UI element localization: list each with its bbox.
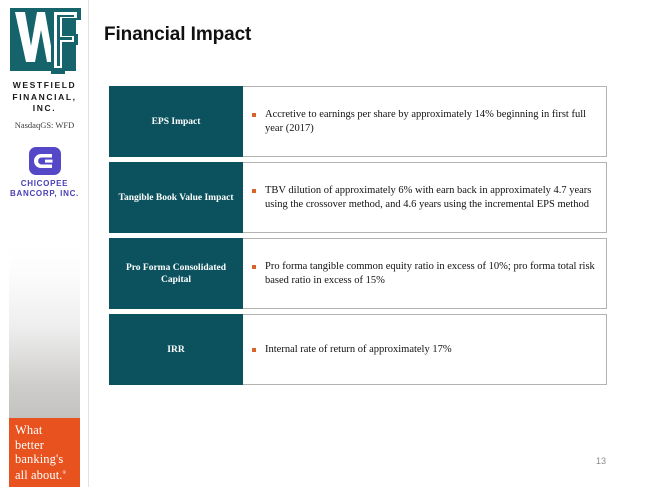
- bullet-line: Internal rate of return of approximately…: [252, 343, 452, 357]
- stock-ticker: NasdaqGS: WFD: [0, 120, 89, 130]
- brand-sidebar: WESTFIELD FINANCIAL, INC. NasdaqGS: WFD …: [0, 0, 89, 487]
- westfield-wordmark-line3: INC.: [0, 103, 89, 115]
- table-row: IRR Internal rate of return of approxima…: [109, 314, 607, 385]
- page-title: Financial Impact: [104, 24, 251, 46]
- financial-impact-table: EPS Impact Accretive to earnings per sha…: [109, 86, 607, 385]
- westfield-wf-monogram-icon: [7, 6, 83, 76]
- bullet-text: Accretive to earnings per share by appro…: [265, 108, 596, 136]
- bullet-line: Pro forma tangible common equity ratio i…: [252, 260, 596, 288]
- row-label-irr: IRR: [109, 314, 243, 385]
- sidebar-gradient-strip: [9, 243, 80, 418]
- chicopee-bancorp-wordmark: CHICOPEE BANCORP, INC.: [0, 179, 89, 198]
- westfield-wordmark-line2: FINANCIAL,: [0, 92, 89, 104]
- table-row: Pro Forma Consolidated Capital Pro forma…: [109, 238, 607, 309]
- westfield-wordmark: WESTFIELD FINANCIAL, INC.: [0, 80, 89, 115]
- chicopee-wordmark-line1: CHICOPEE: [0, 179, 89, 189]
- tagline-line4: all about.®: [15, 467, 80, 483]
- bullet-line: Accretive to earnings per share by appro…: [252, 108, 596, 136]
- row-label-eps-impact: EPS Impact: [109, 86, 243, 157]
- chicopee-bancorp-logo: CHICOPEE BANCORP, INC.: [0, 146, 89, 198]
- tagline-line2: better: [15, 438, 80, 453]
- bullet-text: Internal rate of return of approximately…: [265, 343, 452, 357]
- trademark-mark: ®: [63, 471, 67, 476]
- chicopee-wordmark-line2: BANCORP, INC.: [0, 189, 89, 199]
- row-body-eps-impact: Accretive to earnings per share by appro…: [243, 86, 607, 157]
- tagline-line1: What: [15, 423, 80, 438]
- westfield-wordmark-line1: WESTFIELD: [0, 80, 89, 92]
- slide-content: Financial Impact EPS Impact Accretive to…: [89, 0, 650, 487]
- bullet-square-icon: [252, 113, 256, 117]
- chicopee-bancorp-mark-icon: [28, 146, 62, 176]
- table-row: EPS Impact Accretive to earnings per sha…: [109, 86, 607, 157]
- bullet-square-icon: [252, 189, 256, 193]
- row-label-tangible-book-value-impact: Tangible Book Value Impact: [109, 162, 243, 233]
- bullet-text: Pro forma tangible common equity ratio i…: [265, 260, 596, 288]
- bullet-square-icon: [252, 265, 256, 269]
- bullet-text: TBV dilution of approximately 6% with ea…: [265, 184, 596, 212]
- row-body-pro-forma-consolidated-capital: Pro forma tangible common equity ratio i…: [243, 238, 607, 309]
- bullet-line: TBV dilution of approximately 6% with ea…: [252, 184, 596, 212]
- bullet-square-icon: [252, 348, 256, 352]
- page-number: 13: [596, 456, 606, 466]
- tagline-line3: banking's: [15, 452, 80, 467]
- row-body-irr: Internal rate of return of approximately…: [243, 314, 607, 385]
- table-row: Tangible Book Value Impact TBV dilution …: [109, 162, 607, 233]
- row-body-tangible-book-value-impact: TBV dilution of approximately 6% with ea…: [243, 162, 607, 233]
- row-label-pro-forma-consolidated-capital: Pro Forma Consolidated Capital: [109, 238, 243, 309]
- brand-tagline-box: What better banking's all about.®: [9, 418, 80, 487]
